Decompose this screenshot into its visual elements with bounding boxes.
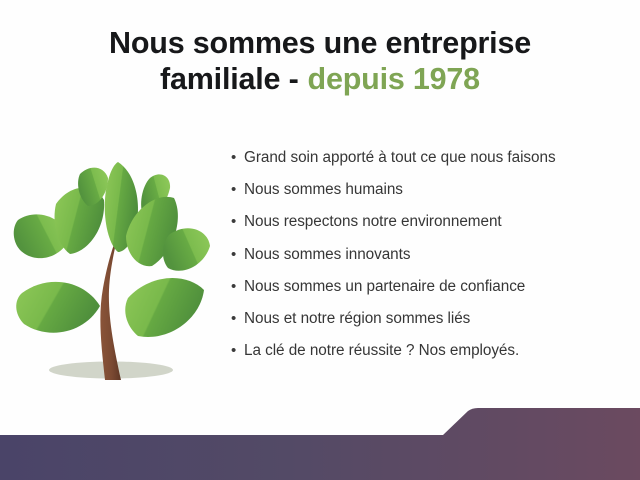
list-item-label: Nous respectons notre environnement [244, 213, 502, 231]
title-line-2: familiale -depuis 1978 [0, 62, 640, 98]
list-item: • Nous sommes humains [231, 181, 631, 213]
list-item: • Nous et notre région sommes liés [231, 310, 631, 342]
list-item-label: Nous sommes innovants [244, 246, 410, 264]
list-item-label: Nous sommes un partenaire de confiance [244, 278, 525, 296]
bullet-marker-icon: • [231, 247, 244, 262]
list-item-label: Grand soin apporté à tout ce que nous fa… [244, 149, 556, 167]
brand-footer-bar: TABOR tabor-automobiles.fr [0, 400, 640, 480]
leaf-mid-right [163, 228, 210, 271]
benefits-list: • Grand soin apporté à tout ce que nous … [231, 149, 631, 374]
list-item-label: Nous sommes humains [244, 181, 403, 199]
tree-trunk [100, 234, 121, 380]
list-item: • Grand soin apporté à tout ce que nous … [231, 149, 631, 181]
bullet-marker-icon: • [231, 279, 244, 294]
bullet-marker-icon: • [231, 214, 244, 229]
list-item: • Nous sommes un partenaire de confiance [231, 278, 631, 310]
tree-illustration [8, 148, 218, 393]
list-item: • Nous sommes innovants [231, 246, 631, 278]
list-item: • La clé de notre réussite ? Nos employé… [231, 342, 631, 374]
title-accent-text: depuis 1978 [308, 62, 480, 96]
list-item-label: Nous et notre région sommes liés [244, 310, 470, 328]
title-line-1: Nous sommes une entreprise [0, 26, 640, 62]
title-line-2-main: familiale - [160, 62, 299, 96]
slide-canvas: Nous sommes une entreprise familiale -de… [0, 0, 640, 480]
bullet-marker-icon: • [231, 150, 244, 165]
list-item-label: La clé de notre réussite ? Nos employés. [244, 342, 519, 360]
page-title: Nous sommes une entreprise familiale -de… [0, 26, 640, 97]
bullet-marker-icon: • [231, 182, 244, 197]
bullet-marker-icon: • [231, 311, 244, 326]
brand-bar-shape [0, 408, 640, 480]
list-item: • Nous respectons notre environnement [231, 213, 631, 245]
leaf-lower-right [125, 278, 204, 337]
bullet-marker-icon: • [231, 343, 244, 358]
leaf-lower-left [16, 282, 100, 333]
